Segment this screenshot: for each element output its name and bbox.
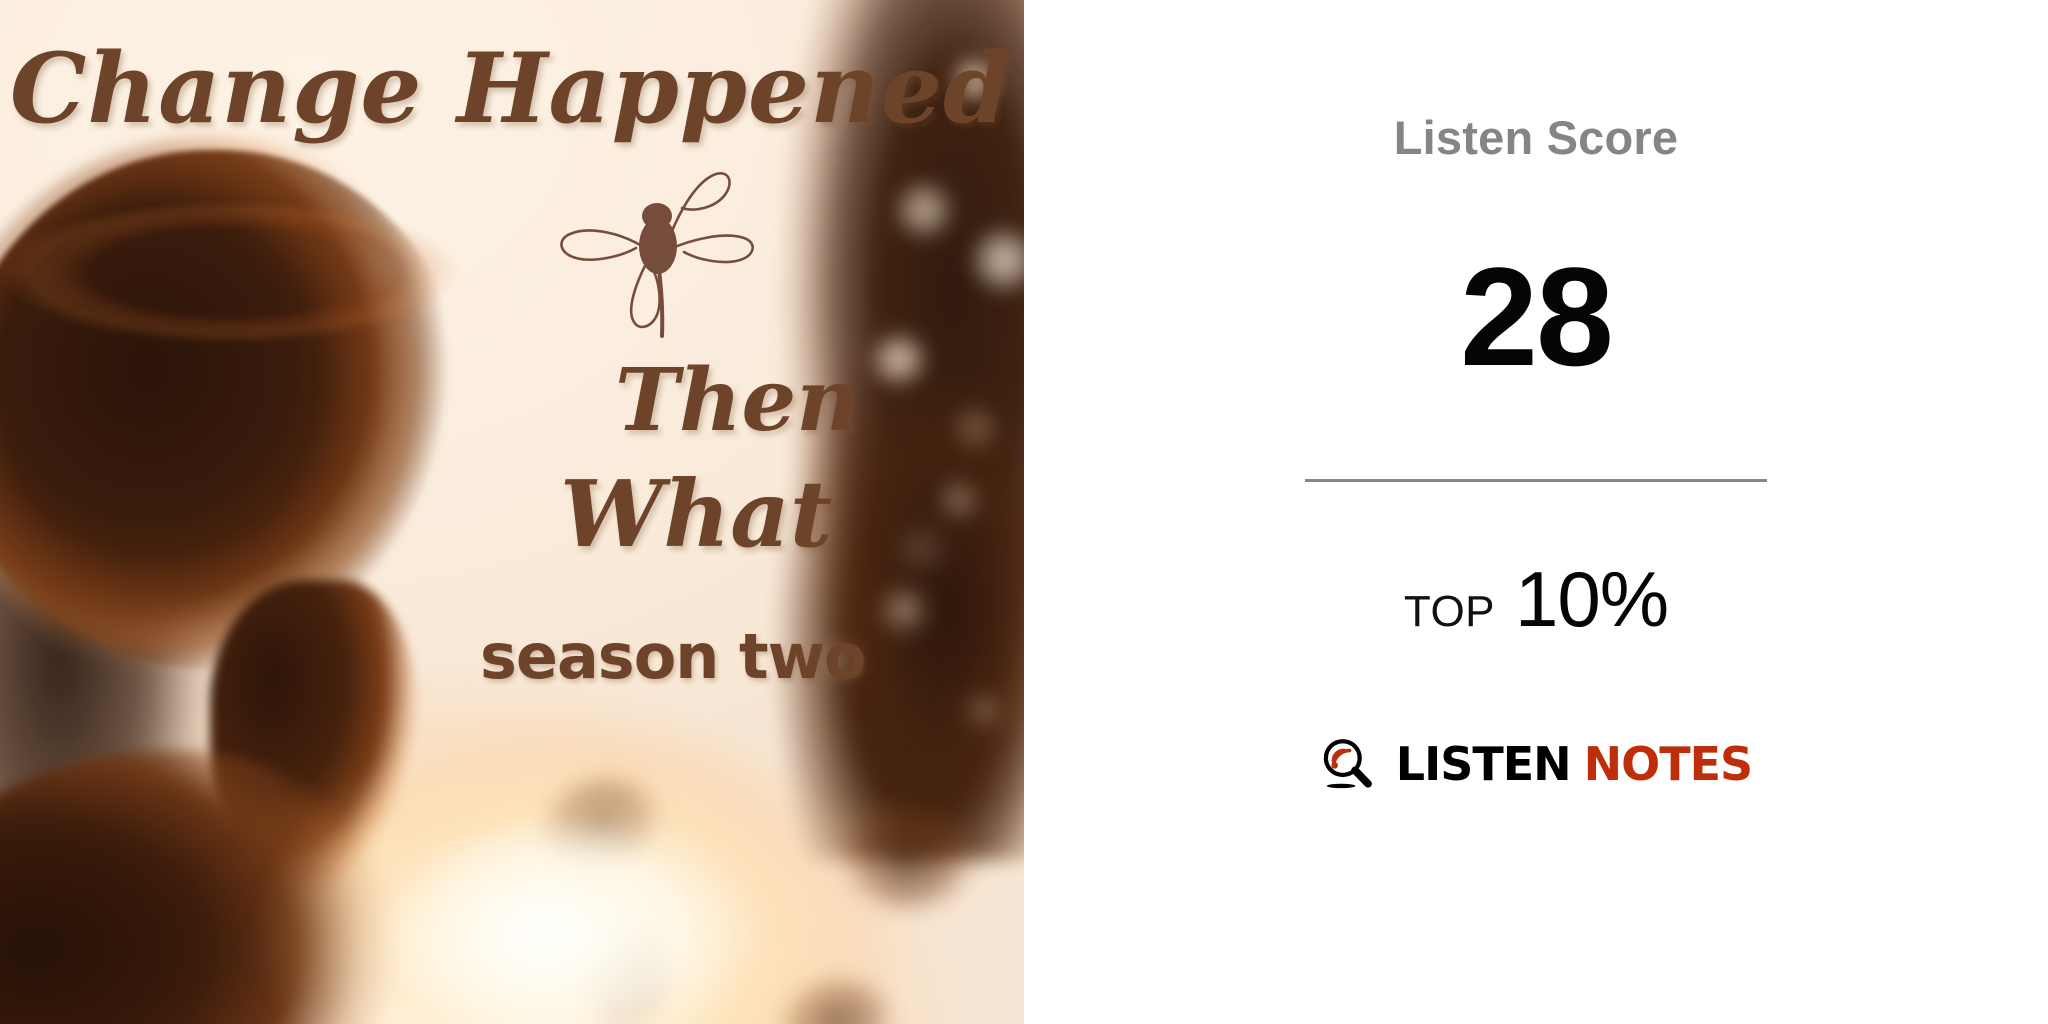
listen-score-card: Change Happened Then What season two Lis… [0,0,2048,1024]
listen-score-panel: Listen Score 28 TOP 10% [1024,0,2048,1024]
listen-notes-logo[interactable]: LISTEN NOTES [1320,737,1752,791]
cover-title-line3: What [560,460,832,568]
top-label: TOP [1404,587,1495,637]
top-percent-value: 10% [1515,554,1668,645]
brand-word-notes: NOTES [1584,741,1753,787]
podcast-cover-art[interactable]: Change Happened Then What season two [0,0,1024,1024]
listen-score-heading: Listen Score [1394,114,1679,161]
brand-word-listen: LISTEN [1396,741,1571,787]
cover-subtitle: season two [480,620,866,693]
cover-text-layer: Change Happened Then What season two [0,0,1024,1024]
score-divider [1305,479,1767,482]
dragonfly-icon [548,150,768,340]
top-percentile-row: TOP 10% [1404,554,1668,645]
cover-title-line1: Change Happened [10,32,1010,145]
listen-notes-wordmark: LISTEN NOTES [1396,741,1752,787]
listen-notes-magnifier-rss-icon [1320,737,1374,791]
listen-score-value: 28 [1460,247,1612,387]
cover-title-line2: Then [615,350,859,451]
